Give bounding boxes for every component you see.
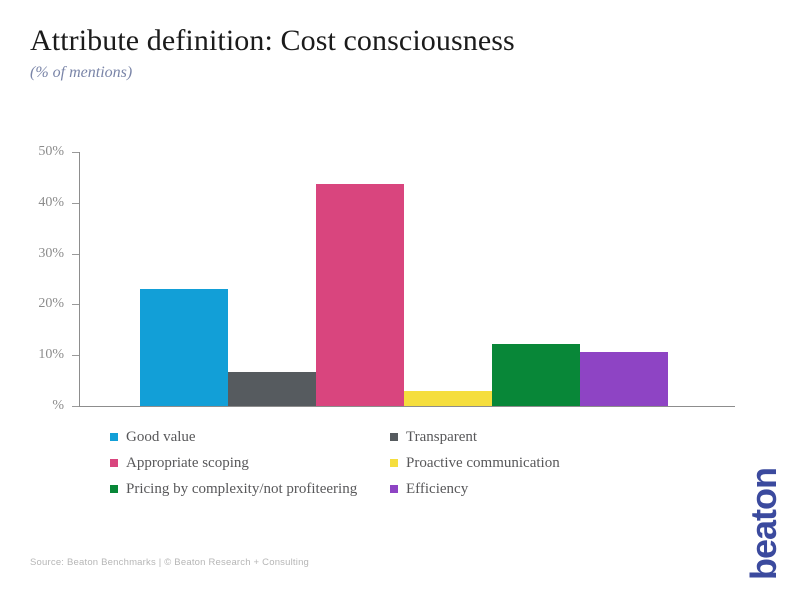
bar[interactable] (492, 344, 580, 406)
legend-item[interactable]: Efficiency (390, 482, 670, 497)
y-axis: %10%20%30%40%50% (22, 140, 64, 420)
legend-item[interactable]: Pricing by complexity/not profiteering (110, 482, 390, 497)
y-tick-mark (72, 254, 79, 255)
legend-label: Pricing by complexity/not profiteering (126, 482, 357, 497)
bar[interactable] (140, 289, 228, 406)
logo-text: beaton (746, 448, 782, 580)
legend-label: Efficiency (406, 482, 468, 497)
legend-swatch-icon (110, 485, 118, 493)
bar[interactable] (316, 184, 404, 406)
bar[interactable] (228, 372, 316, 406)
legend-swatch-icon (390, 485, 398, 493)
legend-swatch-icon (110, 433, 118, 441)
legend-swatch-icon (110, 459, 118, 467)
bar-series (140, 140, 672, 406)
y-tick-label: % (22, 398, 64, 414)
legend-label: Appropriate scoping (126, 456, 249, 471)
bar[interactable] (404, 391, 492, 406)
legend-label: Good value (126, 430, 196, 445)
legend-item[interactable]: Appropriate scoping (110, 456, 390, 471)
y-tick-mark (72, 304, 79, 305)
y-tick-label: 20% (22, 296, 64, 312)
legend-swatch-icon (390, 459, 398, 467)
chart-legend: Good valueTransparentAppropriate scoping… (110, 424, 670, 502)
y-tick-mark (72, 203, 79, 204)
legend-item[interactable]: Good value (110, 430, 390, 445)
y-axis-line (79, 152, 80, 406)
y-tick-label: 10% (22, 347, 64, 363)
legend-label: Proactive communication (406, 456, 560, 471)
y-tick-label: 30% (22, 246, 64, 262)
bar-chart: %10%20%30%40%50% (0, 0, 800, 600)
x-axis-line (79, 406, 735, 407)
bar[interactable] (580, 352, 668, 406)
y-tick-label: 40% (22, 195, 64, 211)
legend-item[interactable]: Proactive communication (390, 456, 670, 471)
y-tick-mark (72, 406, 79, 407)
source-note: Source: Beaton Benchmarks | © Beaton Res… (30, 557, 309, 568)
y-tick-mark (72, 355, 79, 356)
legend-swatch-icon (390, 433, 398, 441)
legend-item[interactable]: Transparent (390, 430, 670, 445)
y-tick-mark (72, 152, 79, 153)
y-tick-label: 50% (22, 144, 64, 160)
legend-label: Transparent (406, 430, 477, 445)
beaton-logo: beaton (744, 450, 784, 580)
